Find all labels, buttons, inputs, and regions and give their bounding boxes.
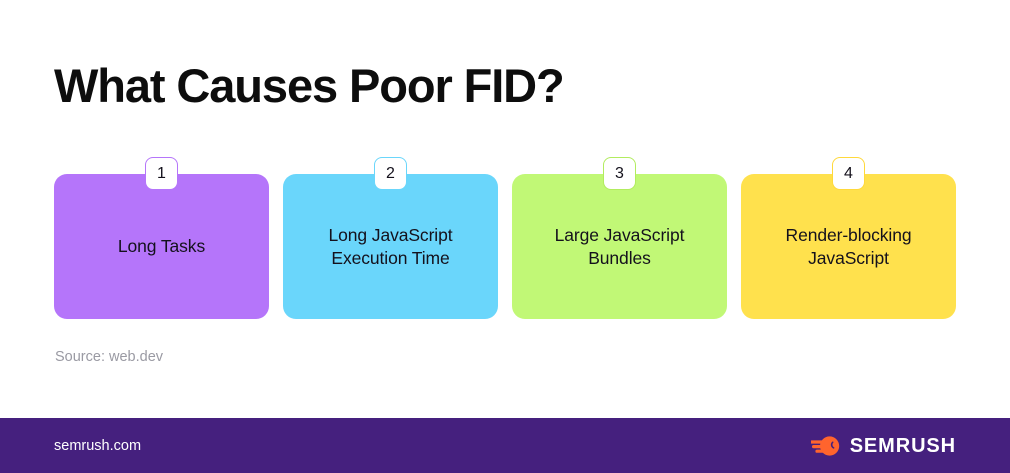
card-2-number: 2 <box>386 166 395 182</box>
card-4-label: Render-blocking JavaScript <box>786 224 912 270</box>
card-1-number-badge: 1 <box>145 157 178 190</box>
card-3: 3 Large JavaScript Bundles <box>512 174 727 319</box>
card-3-label: Large JavaScript Bundles <box>555 224 685 270</box>
card-3-number: 3 <box>615 166 624 182</box>
source-attribution: Source: web.dev <box>55 347 163 367</box>
footer-website-url: semrush.com <box>54 436 141 456</box>
card-3-number-badge: 3 <box>603 157 636 190</box>
footer-bar: semrush.com SEMRUSH <box>0 418 1010 473</box>
card-2: 2 Long JavaScript Execution Time <box>283 174 498 319</box>
cards-row: 1 Long Tasks 2 Long JavaScript Execution… <box>54 174 956 319</box>
semrush-logo: SEMRUSH <box>811 435 956 457</box>
card-2-label: Long JavaScript Execution Time <box>329 224 453 270</box>
card-1-label: Long Tasks <box>118 235 205 258</box>
card-4: 4 Render-blocking JavaScript <box>741 174 956 319</box>
card-1-number: 1 <box>157 166 166 182</box>
infographic-root: What Causes Poor FID? 1 Long Tasks 2 Lon… <box>0 0 1010 473</box>
page-title: What Causes Poor FID? <box>54 58 564 114</box>
card-4-number-badge: 4 <box>832 157 865 190</box>
card-1: 1 Long Tasks <box>54 174 269 319</box>
card-2-number-badge: 2 <box>374 157 407 190</box>
card-4-number: 4 <box>844 166 853 182</box>
semrush-comet-icon <box>811 435 841 457</box>
content-area: What Causes Poor FID? 1 Long Tasks 2 Lon… <box>0 0 1010 418</box>
semrush-wordmark: SEMRUSH <box>850 435 956 457</box>
